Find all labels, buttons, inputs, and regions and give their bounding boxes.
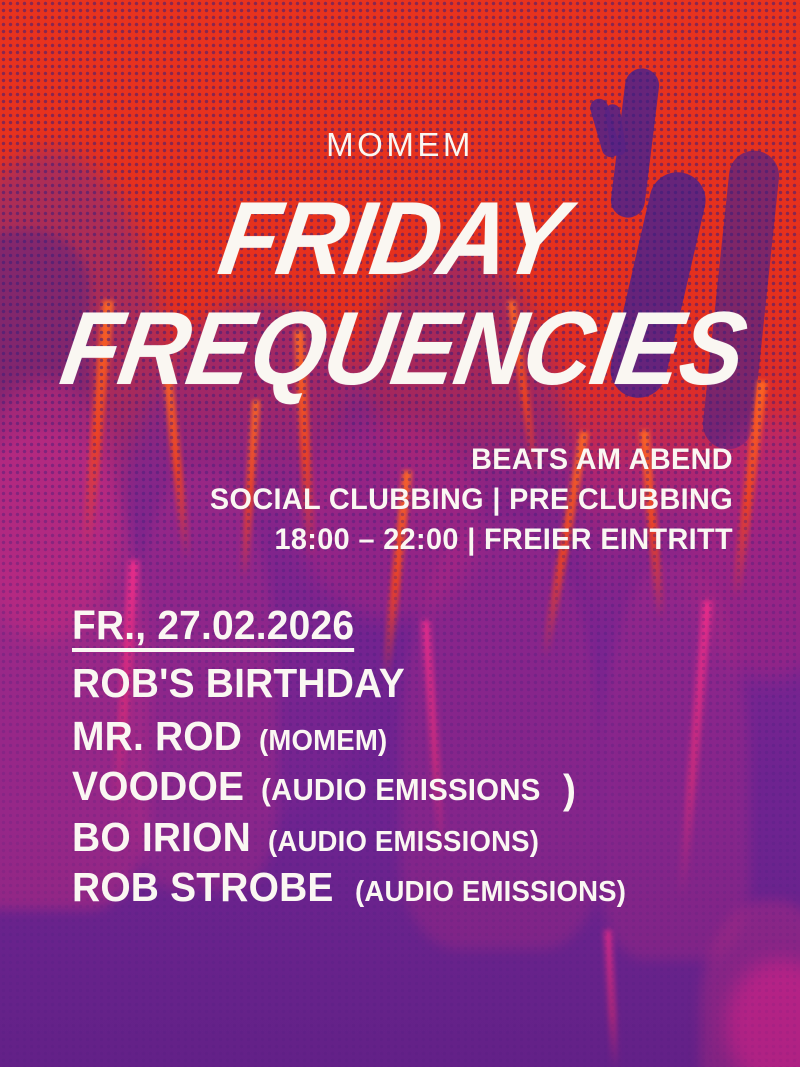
event-date: FR., 27.02.2026 — [72, 604, 354, 652]
artist-name: MR. ROD — [72, 715, 242, 758]
poster-title-line-2: FREQUENCIES — [56, 306, 751, 393]
event-date-row: FR., 27.02.2026 — [72, 604, 772, 652]
artist-name: BO IRION — [72, 816, 251, 859]
venue-name: MOMEM — [0, 128, 800, 161]
artist-name: VOODOE — [72, 765, 244, 808]
lineup-artist-row: VOODOE(AUDIO EMISSIONS) — [72, 765, 772, 808]
artist-name: ROB STROBE — [72, 866, 334, 909]
poster-title-line-1: FRIDAY — [214, 196, 571, 283]
artist-affiliation-close-paren: ) — [563, 775, 576, 804]
subtitle-line-format: SOCIAL CLUBBING | PRE CLUBBING — [202, 480, 733, 520]
event-occasion: ROB'S BIRTHDAY — [72, 662, 405, 705]
poster-content: MOMEM FRIDAY FREQUENCIES BEATS AM ABEND … — [0, 0, 800, 1067]
lineup-artist-row: MR. ROD(MOMEM) — [72, 715, 772, 758]
subtitle-line-time-entry: 18:00 – 22:00 | FREIER EINTRITT — [202, 520, 733, 560]
artist-affiliation: (AUDIO EMISSIONS) — [355, 877, 626, 908]
subtitle-block: BEATS AM ABEND SOCIAL CLUBBING | PRE CLU… — [180, 440, 733, 560]
artist-affiliation: (MOMEM) — [259, 726, 387, 757]
subtitle-line-tagline: BEATS AM ABEND — [202, 440, 733, 480]
artist-affiliation: (AUDIO EMISSIONS — [261, 774, 541, 807]
event-occasion-row: ROB'S BIRTHDAY — [72, 662, 772, 705]
lineup-block: FR., 27.02.2026 ROB'S BIRTHDAY MR. ROD(M… — [72, 604, 772, 917]
lineup-artist-row: BO IRION(AUDIO EMISSIONS) — [72, 816, 772, 859]
lineup-artist-row: ROB STROBE(AUDIO EMISSIONS) — [72, 866, 772, 909]
artist-affiliation: (AUDIO EMISSIONS) — [268, 827, 539, 858]
event-poster: MOMEM FRIDAY FREQUENCIES BEATS AM ABEND … — [0, 0, 800, 1067]
